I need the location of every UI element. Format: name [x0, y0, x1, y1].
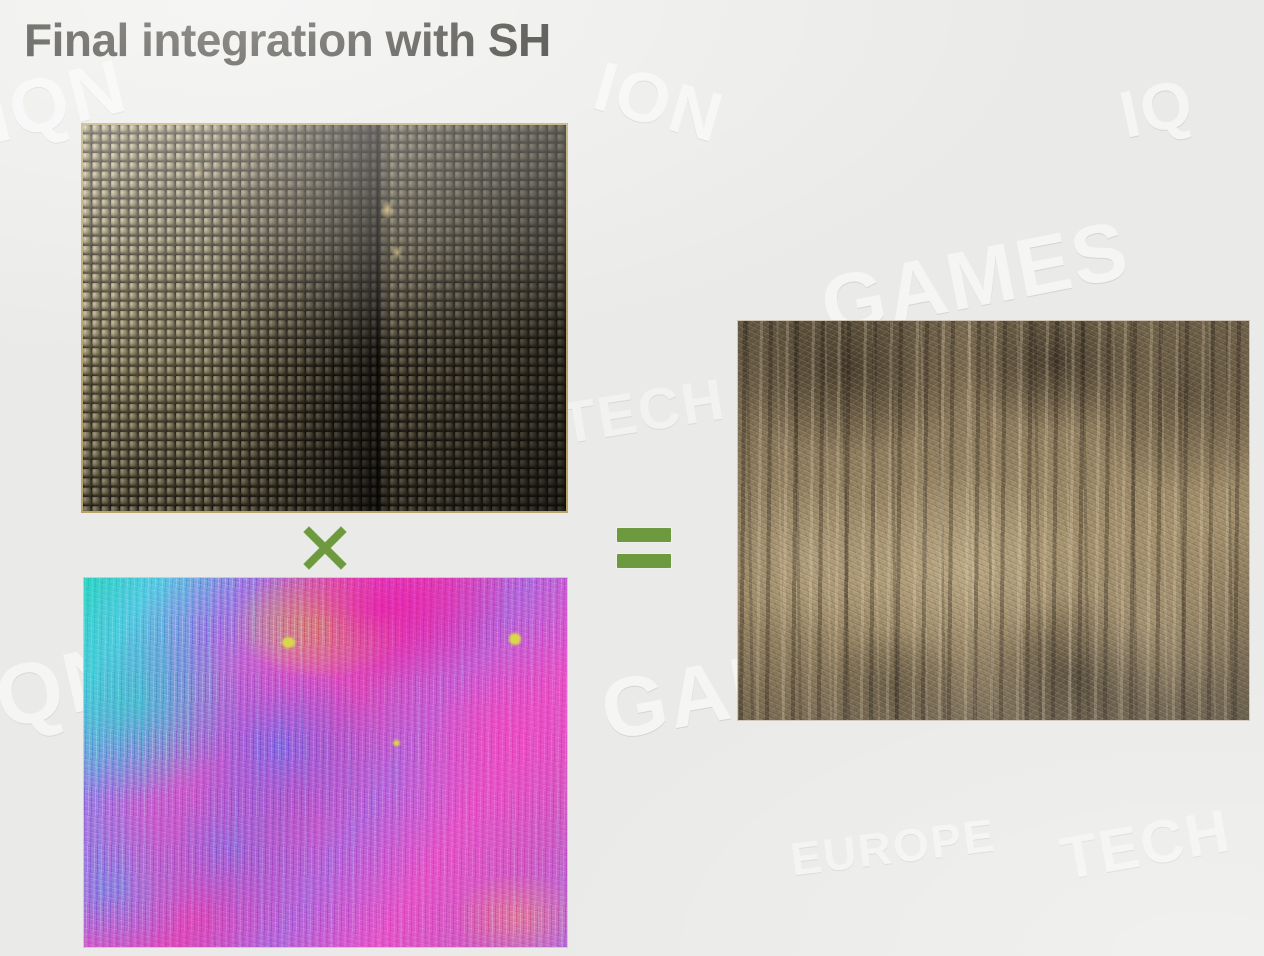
- sh-dark-seam: [375, 125, 380, 511]
- slide-title: Final integration with SH: [24, 16, 551, 64]
- watermark-text: TECH: [1055, 796, 1236, 894]
- sh-probe-grid-image: [81, 123, 568, 513]
- normal-map-noise: [83, 577, 568, 948]
- watermark-text: IQ: [1113, 63, 1201, 153]
- equals-bar-top: [617, 528, 671, 542]
- equals-icon: [617, 528, 671, 568]
- final-render-result-image: [737, 320, 1250, 721]
- presentation-slide: IQN ION GAMES TECH IQN GAMES EUROPE IQ T…: [0, 0, 1264, 956]
- sh-highlights: [83, 125, 566, 511]
- normal-map-specular-dot: [282, 637, 295, 648]
- watermark-text: ION: [586, 46, 733, 159]
- watermark-text: EUROPE: [787, 808, 998, 887]
- multiply-icon: [300, 523, 350, 573]
- detail-normal-map-image: [83, 577, 568, 948]
- watermark-text: TECH: [556, 365, 730, 457]
- equals-bar-bottom: [617, 554, 671, 568]
- result-vignette: [738, 321, 1249, 720]
